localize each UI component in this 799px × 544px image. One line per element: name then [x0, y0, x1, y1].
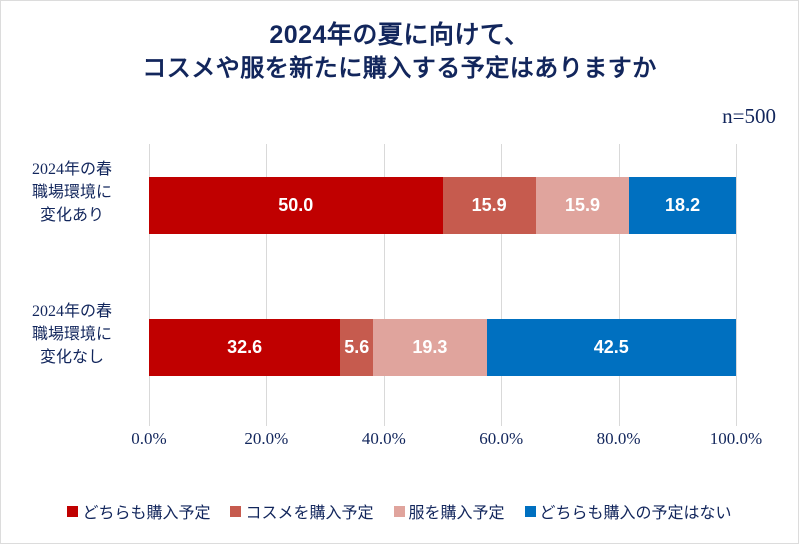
gridline-5	[736, 144, 737, 426]
bar-value-label-1-2: 19.3	[412, 337, 447, 358]
bar-segment-0-0[interactable]: 50.0	[149, 177, 443, 234]
y-axis-category-1-line-0: 2024年の春	[8, 300, 136, 323]
bar-value-label-0-1: 15.9	[472, 195, 507, 216]
legend-label-1: コスメを購入予定	[245, 499, 373, 523]
bar-segment-1-0[interactable]: 32.6	[149, 319, 340, 376]
y-axis-category-1-line-1: 職場環境に	[8, 323, 136, 346]
stacked-bar-chart: 2024年の夏に向けて、 コスメや服を新たに購入する予定はありますか n=500…	[0, 0, 799, 544]
x-axis-tick-label-2: 40.0%	[362, 429, 406, 449]
bar-value-label-1-1: 5.6	[344, 337, 369, 358]
y-axis-category-label-1: 2024年の春職場環境に変化なし	[8, 300, 136, 370]
bar-segment-0-1[interactable]: 15.9	[443, 177, 536, 234]
x-axis-tick-label-4: 80.0%	[597, 429, 641, 449]
legend-swatch-icon-3	[525, 506, 536, 517]
chart-title-line-1: 2024年の夏に向けて、	[1, 19, 798, 53]
legend-item-1[interactable]: コスメを購入予定	[230, 499, 373, 523]
bar-segment-1-2[interactable]: 19.3	[373, 319, 486, 376]
bar-segment-0-3[interactable]: 18.2	[629, 177, 736, 234]
y-axis-category-0-line-0: 2024年の春	[8, 158, 136, 181]
sample-size-annotation: n=500	[722, 104, 776, 129]
legend-label-0: どちらも購入予定	[82, 499, 210, 523]
stacked-bar-row-1: 32.65.619.342.5	[149, 319, 736, 376]
legend-item-3[interactable]: どちらも購入の予定はない	[525, 499, 732, 523]
plot-area: 50.015.915.918.2 32.65.619.342.5	[149, 144, 736, 426]
bar-value-label-0-2: 15.9	[565, 195, 600, 216]
legend-swatch-icon-1	[230, 506, 241, 517]
bar-value-label-1-0: 32.6	[227, 337, 262, 358]
bar-segment-0-2[interactable]: 15.9	[536, 177, 629, 234]
legend-label-3: どちらも購入の予定はない	[540, 499, 732, 523]
bar-value-label-0-3: 18.2	[665, 195, 700, 216]
y-axis-category-0-line-2: 変化あり	[8, 204, 136, 227]
y-axis-category-label-0: 2024年の春職場環境に変化あり	[8, 158, 136, 228]
chart-legend: どちらも購入予定コスメを購入予定服を購入予定どちらも購入の予定はない	[1, 499, 798, 523]
bar-value-label-0-0: 50.0	[278, 195, 313, 216]
x-axis-tick-label-3: 60.0%	[479, 429, 523, 449]
x-axis-tick-label-0: 0.0%	[131, 429, 166, 449]
legend-swatch-icon-2	[394, 506, 405, 517]
stacked-bar-row-0: 50.015.915.918.2	[149, 177, 736, 234]
x-axis-tick-label-1: 20.0%	[244, 429, 288, 449]
chart-title: 2024年の夏に向けて、 コスメや服を新たに購入する予定はありますか	[1, 19, 798, 85]
legend-label-2: 服を購入予定	[409, 499, 505, 523]
y-axis-category-0-line-1: 職場環境に	[8, 181, 136, 204]
legend-swatch-icon-0	[67, 506, 78, 517]
chart-title-line-2: コスメや服を新たに購入する予定はありますか	[1, 53, 798, 85]
x-axis: 0.0%20.0%40.0%60.0%80.0%100.0%	[149, 429, 736, 455]
x-axis-tick-label-5: 100.0%	[710, 429, 762, 449]
y-axis-category-1-line-2: 変化なし	[8, 346, 136, 369]
legend-item-2[interactable]: 服を購入予定	[394, 499, 505, 523]
bar-segment-1-3[interactable]: 42.5	[487, 319, 736, 376]
legend-item-0[interactable]: どちらも購入予定	[67, 499, 210, 523]
bar-value-label-1-3: 42.5	[594, 337, 629, 358]
bar-segment-1-1[interactable]: 5.6	[340, 319, 373, 376]
